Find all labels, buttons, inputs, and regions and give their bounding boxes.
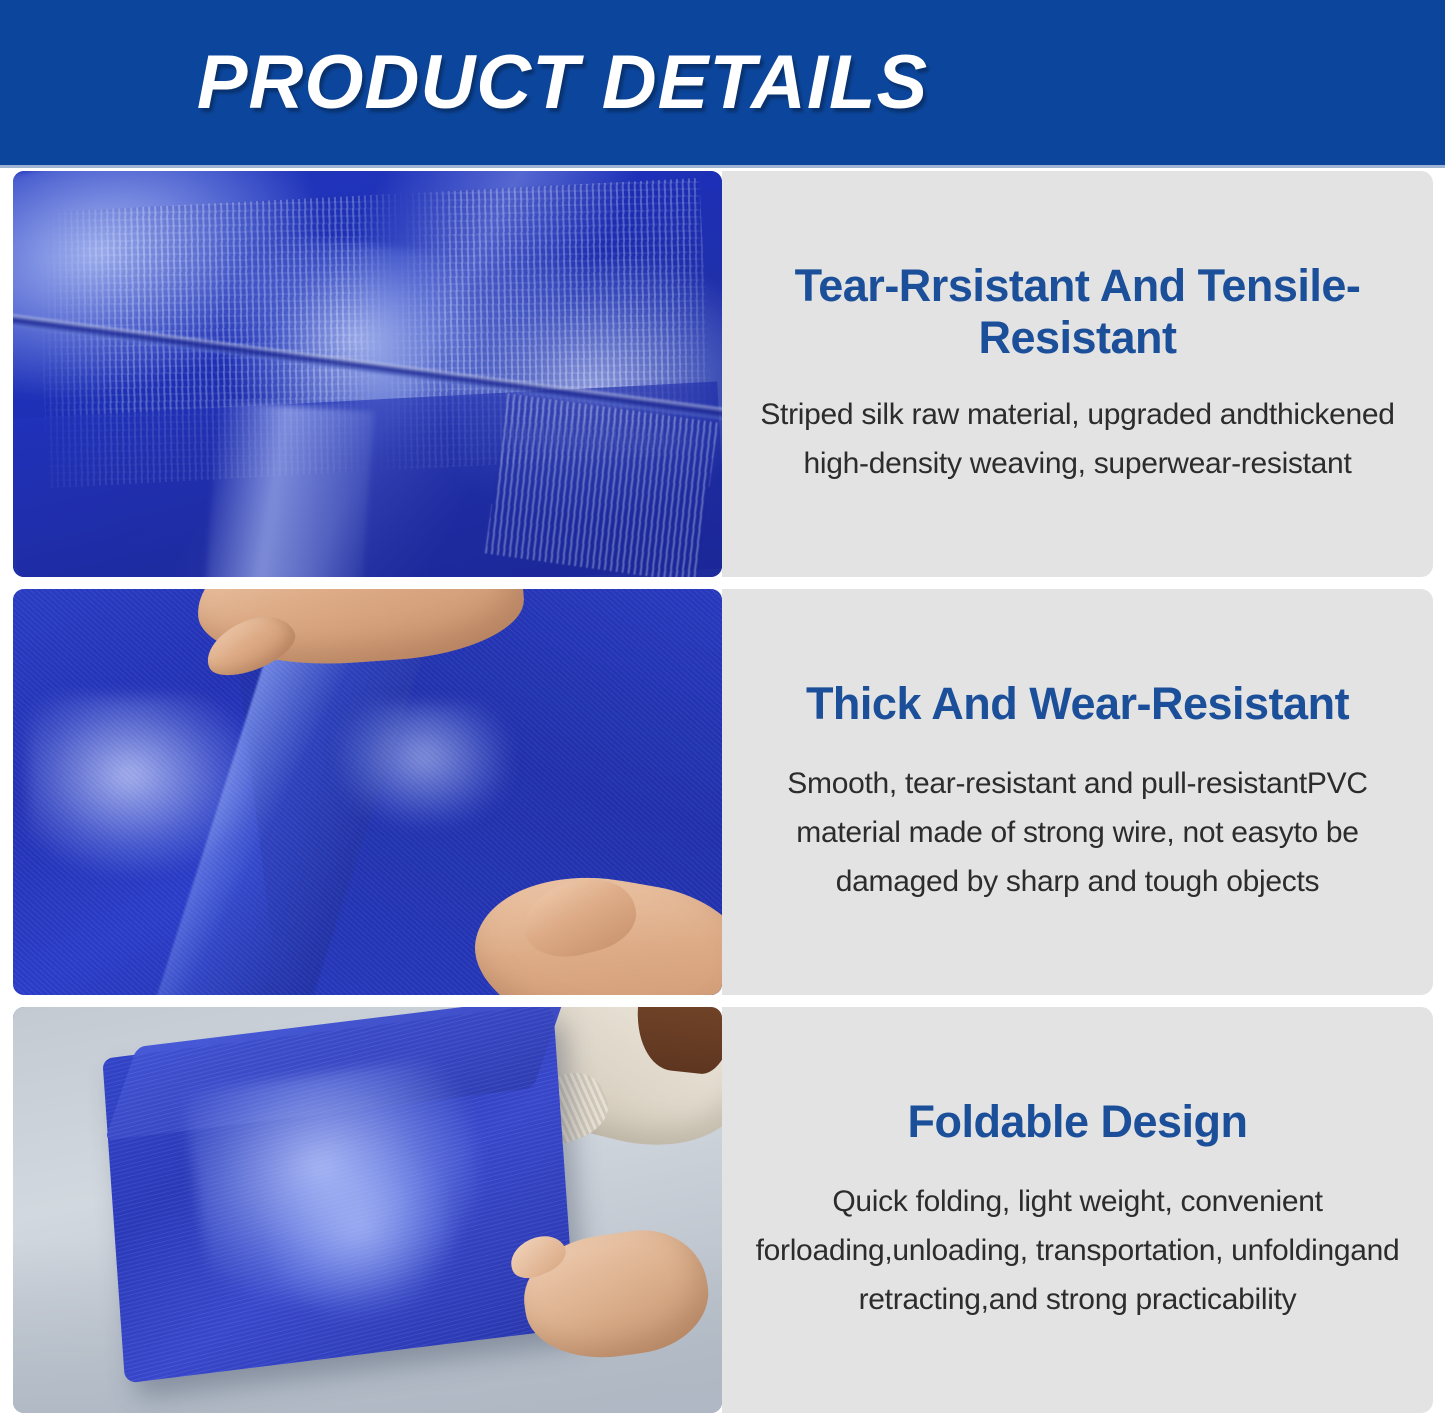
feature-image-foldable-design	[13, 1007, 722, 1413]
feature-image-tear-resistant	[13, 171, 722, 577]
feature-image-wear-resistant	[13, 589, 722, 995]
feature-text-panel: Thick And Wear-Resistant Smooth, tear-re…	[722, 589, 1433, 995]
woven-texture	[485, 392, 718, 577]
feature-text-panel: Tear-Rrsistant And Tensile-Resistant Str…	[722, 171, 1433, 577]
feature-text-panel: Foldable Design Quick folding, light wei…	[722, 1007, 1433, 1413]
gloss-highlight	[255, 1130, 466, 1330]
feature-list: Tear-Rrsistant And Tensile-Resistant Str…	[0, 171, 1445, 1425]
feature-row: Thick And Wear-Resistant Smooth, tear-re…	[0, 589, 1445, 995]
product-details-infographic: PRODUCT DETAILS Tear-Rrsistant And Tensi…	[0, 0, 1445, 1427]
page-header-banner: PRODUCT DETAILS	[0, 0, 1445, 168]
gloss-highlight	[205, 401, 374, 577]
page-title: PRODUCT DETAILS	[197, 45, 1248, 121]
feature-title: Foldable Design	[907, 1096, 1247, 1149]
feature-row: Foldable Design Quick folding, light wei…	[0, 1007, 1445, 1413]
feature-description: Quick folding, light weight, convenient …	[748, 1178, 1407, 1324]
feature-row: Tear-Rrsistant And Tensile-Resistant Str…	[0, 171, 1445, 577]
feature-title: Tear-Rrsistant And Tensile-Resistant	[748, 260, 1407, 365]
feature-description: Striped silk raw material, upgraded andt…	[748, 391, 1407, 488]
feature-description: Smooth, tear-resistant and pull-resistan…	[748, 760, 1407, 906]
feature-title: Thick And Wear-Resistant	[806, 678, 1349, 731]
